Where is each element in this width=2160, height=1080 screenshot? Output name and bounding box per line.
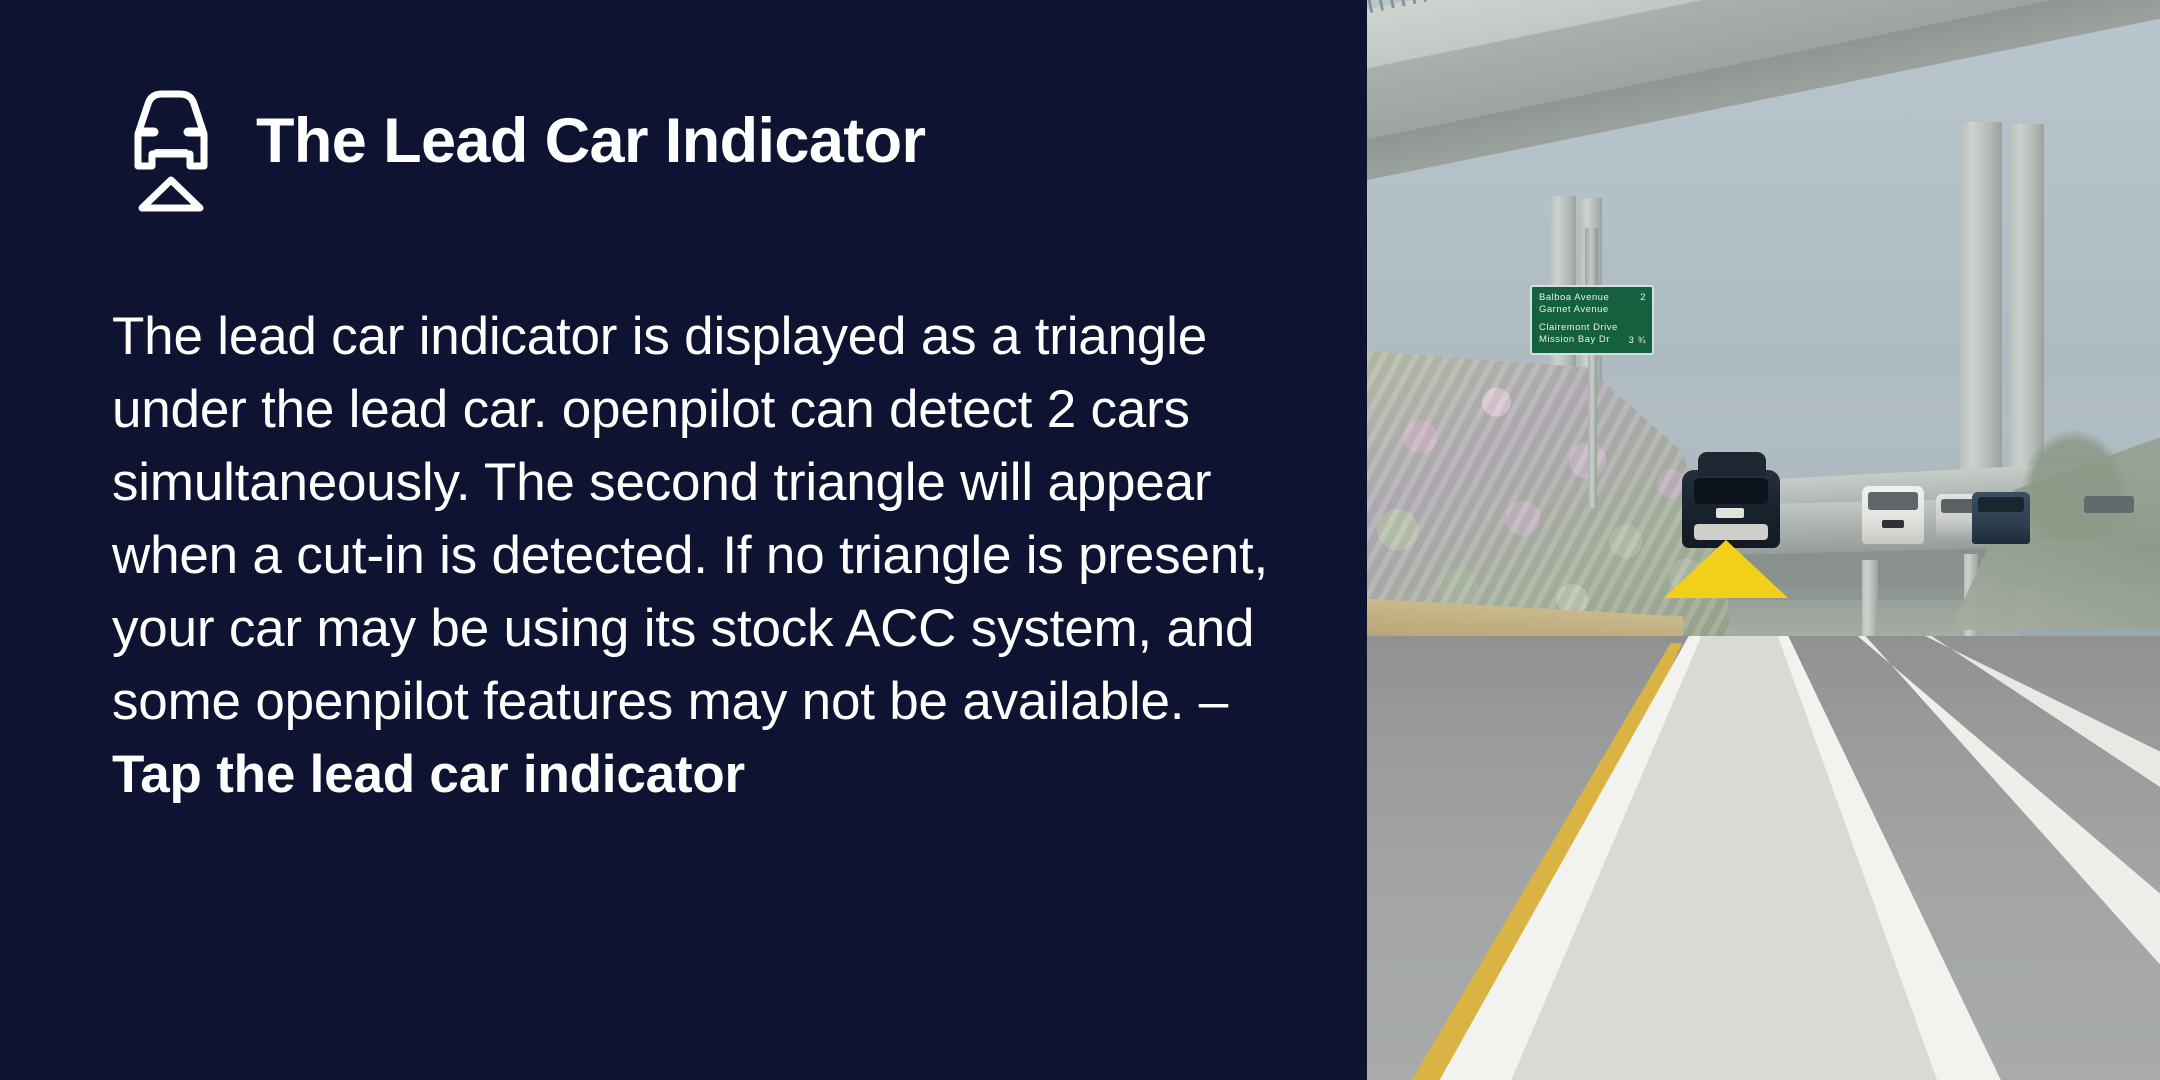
white-suv-window — [1868, 492, 1918, 510]
panel-body-text: The lead car indicator is displayed as a… — [112, 300, 1272, 811]
white-suv-far-right-window — [2084, 496, 2134, 513]
blue-pickup-window — [1978, 497, 2024, 512]
panel-divider — [1364, 0, 1367, 1080]
guide-sign-post-lower — [1588, 352, 1597, 508]
lead-car-license-plate — [1716, 508, 1744, 518]
lead-car-bumper — [1694, 524, 1768, 540]
tutorial-screen: The Lead Car Indicator The lead car indi… — [0, 0, 2160, 1080]
dashcam-photo: Balboa Avenue Garnet Avenue Clairemont D… — [1364, 0, 2160, 1080]
body-paragraph: The lead car indicator is displayed as a… — [112, 307, 1268, 731]
guide-sign-distances: 2 3 ¾ — [1620, 292, 1646, 349]
guide-sign-distance-1: 2 — [1640, 292, 1646, 304]
guide-sign-name-4: Mission Bay Dr — [1539, 334, 1620, 346]
guide-sign-distance-2: 3 ¾ — [1629, 335, 1646, 347]
highway-guide-sign: Balboa Avenue Garnet Avenue Clairemont D… — [1530, 285, 1654, 355]
info-panel: The Lead Car Indicator The lead car indi… — [0, 0, 1364, 1080]
lead-car-roof — [1698, 452, 1766, 476]
lead-car-indicator-triangle[interactable] — [1664, 540, 1788, 598]
guide-sign-name-1: Balboa Avenue — [1539, 292, 1620, 304]
panel-header: The Lead Car Indicator — [112, 78, 925, 216]
white-suv-plate — [1882, 520, 1904, 528]
lead-car-rear-window — [1694, 478, 1768, 504]
guide-sign-name-3: Clairemont Drive — [1539, 322, 1620, 334]
guide-sign-name-2: Garnet Avenue — [1539, 304, 1620, 316]
page-title: The Lead Car Indicator — [256, 110, 925, 173]
lead-car-with-triangle-icon — [112, 80, 230, 216]
guide-sign-destinations: Balboa Avenue Garnet Avenue Clairemont D… — [1539, 292, 1620, 349]
guide-sign-post-upper — [1585, 228, 1598, 290]
body-paragraph-tail: available. – — [962, 672, 1228, 731]
lead-car-indicator-cta[interactable]: Tap the lead car indicator — [112, 745, 745, 804]
